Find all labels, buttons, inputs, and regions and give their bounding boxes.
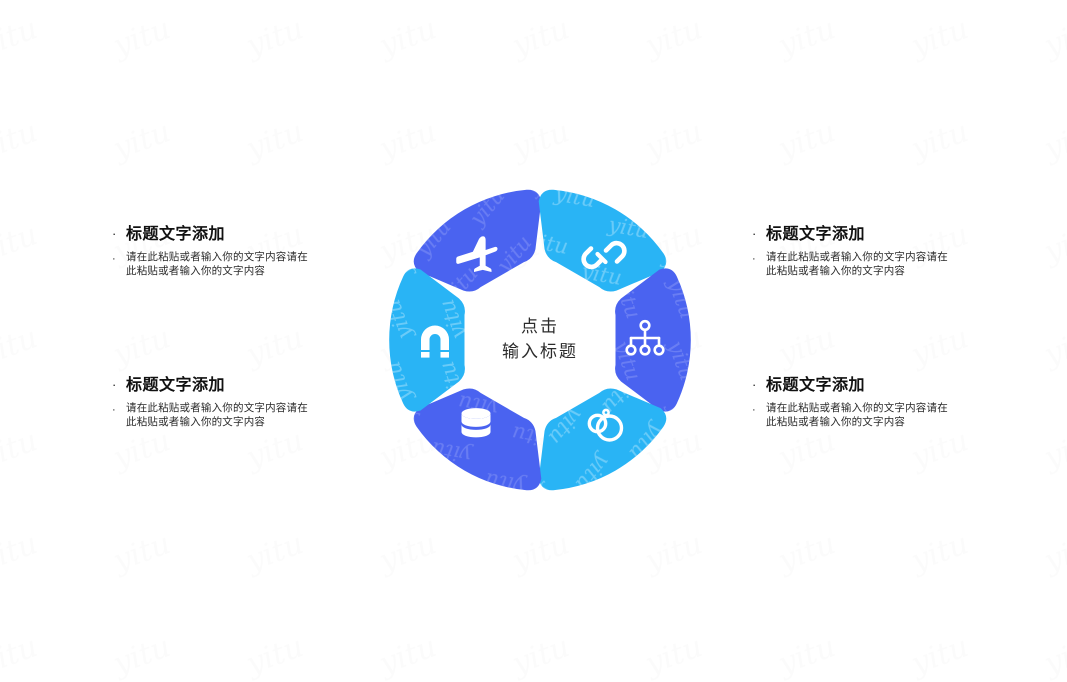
segment-sitemap[interactable] [615, 268, 691, 411]
bullet-icon: · [752, 375, 766, 395]
block-title: 标题文字添加 [126, 224, 225, 244]
watermark-text: yitu [1040, 629, 1067, 682]
bullet-icon: · [112, 375, 126, 395]
watermark-text: yitu [242, 629, 308, 682]
body-row: · 请在此粘贴或者输入你的文字内容请在此粘贴或者输入你的文字内容 [112, 251, 342, 278]
title-row: · 标题文字添加 [752, 224, 982, 244]
text-block-bottom-left: · 标题文字添加 · 请在此粘贴或者输入你的文字内容请在此粘贴或者输入你的文字内… [112, 375, 342, 429]
title-row: · 标题文字添加 [112, 375, 342, 395]
bullet-icon: · [752, 402, 766, 419]
block-title: 标题文字添加 [766, 375, 865, 395]
donut-svg: yitu yitu [383, 183, 697, 497]
watermark-text: yitu [0, 629, 42, 682]
bullet-icon: · [112, 251, 126, 268]
title-row: · 标题文字添加 [752, 375, 982, 395]
bullet-icon: · [112, 224, 126, 244]
block-title: 标题文字添加 [126, 375, 225, 395]
center-disc [466, 266, 614, 414]
block-body: 请在此粘贴或者输入你的文字内容请在此粘贴或者输入你的文字内容 [766, 402, 948, 429]
body-row: · 请在此粘贴或者输入你的文字内容请在此粘贴或者输入你的文字内容 [752, 402, 982, 429]
bullet-icon: · [112, 402, 126, 419]
text-block-top-right: · 标题文字添加 · 请在此粘贴或者输入你的文字内容请在此粘贴或者输入你的文字内… [752, 224, 982, 278]
bullet-icon: · [752, 251, 766, 268]
block-title: 标题文字添加 [766, 224, 865, 244]
database-icon [462, 408, 491, 437]
title-row: · 标题文字添加 [112, 224, 342, 244]
watermark-text: yitu [109, 629, 175, 682]
text-block-top-left: · 标题文字添加 · 请在此粘贴或者输入你的文字内容请在此粘贴或者输入你的文字内… [112, 224, 342, 278]
watermark-text: yitu [907, 629, 973, 682]
circular-diagram: yitu yitu [383, 183, 697, 497]
watermark-text: yitu [774, 629, 840, 682]
bullet-icon: · [752, 224, 766, 244]
block-body: 请在此粘贴或者输入你的文字内容请在此粘贴或者输入你的文字内容 [766, 251, 948, 278]
infographic-stage: yitu yitu [0, 0, 1067, 600]
watermark-text: yitu [375, 629, 441, 682]
watermark-text: yitu [641, 629, 707, 682]
text-block-bottom-right: · 标题文字添加 · 请在此粘贴或者输入你的文字内容请在此粘贴或者输入你的文字内… [752, 375, 982, 429]
block-body: 请在此粘贴或者输入你的文字内容请在此粘贴或者输入你的文字内容 [126, 251, 308, 278]
body-row: · 请在此粘贴或者输入你的文字内容请在此粘贴或者输入你的文字内容 [112, 402, 342, 429]
watermark-text: yitu [508, 629, 574, 682]
block-body: 请在此粘贴或者输入你的文字内容请在此粘贴或者输入你的文字内容 [126, 402, 308, 429]
body-row: · 请在此粘贴或者输入你的文字内容请在此粘贴或者输入你的文字内容 [752, 251, 982, 278]
